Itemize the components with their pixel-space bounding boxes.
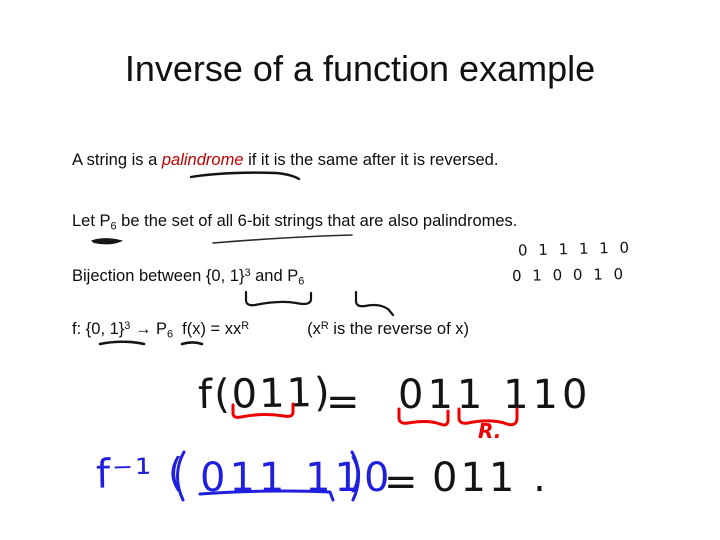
fdef-note-suffix: is the reverse of x) [329,320,469,338]
handwritten-inverse-equals: = [384,459,420,505]
definition-line: A string is a palindrome if it is the sa… [72,149,498,171]
page-title: Inverse of a function example [0,46,720,92]
p6-prefix: Let P [72,212,111,230]
slide-canvas: Inverse of a function example A string i… [0,0,720,540]
handwritten-forward-rhs: 011 110 [398,372,591,418]
handwritten-palindrome-example-1: 0 1 1 1 1 0 [518,239,633,260]
underline-fdef-codomain [182,343,202,345]
handwritten-reverse-label: R. [478,419,501,443]
handwritten-palindrome-example-2: 0 1 0 0 1 0 [512,265,626,285]
bijection-line: Bijection between {0, 1}3 and P6 [72,265,304,287]
fdef-formula-prefix: f(x) = xx [182,320,241,338]
handwritten-inverse-lhs: f⁻¹ ( [96,450,186,498]
bijection-subscript: 6 [298,275,304,287]
definition-before: A string is a [72,151,162,169]
palindrome-emphasis: palindrome [162,151,244,169]
handwritten-inverse-close-paren: ) [348,451,366,497]
fdef-note-prefix: (x [307,320,321,338]
function-definition-line: f: {0, 1}3 → P6f(x) = xxR(xR is the reve… [72,318,469,340]
fdef-codomain-subscript: 6 [167,328,173,340]
underline-palindrome [191,173,299,179]
underline-p6-subscript [93,239,120,243]
underbrace-binary-set [246,292,311,305]
bijection-prefix: Bijection between {0, 1} [72,267,244,285]
p6-rest: be the set of all 6-bit strings that are… [117,212,518,230]
handwritten-forward-lhs: f(011) [198,370,332,418]
fdef-formula-superscript: R [241,320,249,332]
bijection-middle: and P [251,267,299,285]
fdef-arrow: → P [130,320,167,338]
handwritten-forward-equals: = [326,379,362,425]
underline-fdef-domain [100,342,144,344]
p6-definition-line: Let P6 be the set of all 6-bit strings t… [72,210,517,232]
underline-six-bit-strings [213,235,352,243]
definition-after: if it is the same after it is reversed. [244,151,499,169]
handwritten-inverse-rhs: 011 . [432,455,549,501]
fdef-note-superscript: R [321,320,329,332]
underbrace-p6 [356,292,393,315]
fdef-domain-prefix: f: {0, 1} [72,320,124,338]
